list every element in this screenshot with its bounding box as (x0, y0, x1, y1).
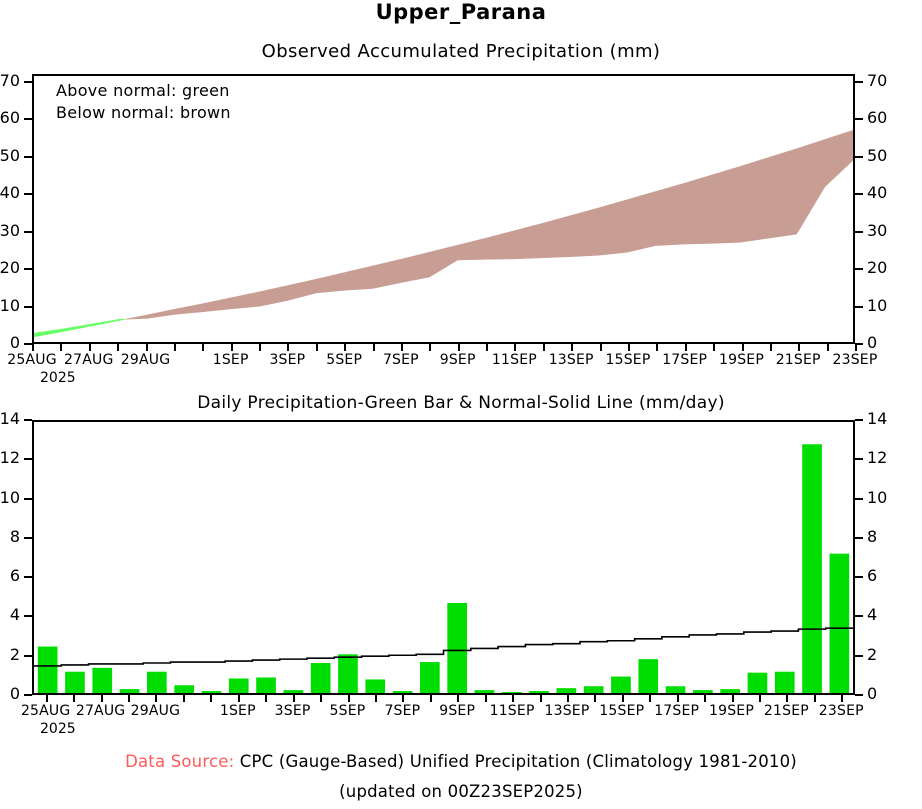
page-title: Upper_Parana (0, 0, 922, 24)
y-tick-mark-left (24, 419, 32, 421)
x-tick-mark (567, 695, 569, 702)
x-tick-mark (543, 344, 545, 351)
legend: Above normal: green Below normal: brown (56, 80, 231, 124)
x-tick-mark (770, 344, 772, 351)
y-tick-mark-right (855, 306, 863, 308)
x-tick-mark (344, 344, 346, 351)
y-tick-mark-left (24, 694, 32, 696)
x-axis-label: 11SEP (492, 352, 537, 368)
x-tick-mark (798, 344, 800, 351)
x-tick-mark (174, 344, 176, 351)
x-tick-mark (457, 695, 459, 702)
x-tick-mark (210, 695, 212, 702)
y-axis-label-left: 12 (0, 450, 20, 466)
y-axis-label-left: 50 (0, 148, 20, 164)
legend-below-normal: Below normal: brown (56, 102, 231, 124)
daily-precipitation-svg (34, 422, 853, 693)
y-axis-label-left: 60 (0, 110, 20, 126)
y-axis-label-right: 14 (867, 411, 903, 427)
y-axis-label-left: 30 (0, 223, 20, 239)
y-axis-label-right: 4 (867, 607, 903, 623)
x-axis-label: 13SEP (549, 352, 594, 368)
x-axis-label: 23SEP (819, 703, 864, 719)
footer-source-text: CPC (Gauge-Based) Unified Precipitation … (240, 752, 797, 771)
y-tick-mark-right (855, 537, 863, 539)
x-axis-label: 17SEP (662, 352, 707, 368)
x-tick-mark (855, 344, 857, 351)
x-tick-mark (101, 695, 103, 702)
x-tick-mark (628, 344, 630, 351)
y-tick-mark-right (855, 576, 863, 578)
y-axis-label-right: 2 (867, 647, 903, 663)
y-axis-label-left: 0 (0, 335, 20, 351)
y-tick-mark-left (24, 231, 32, 233)
x-tick-mark (742, 344, 744, 351)
footer-source-label: Data Source: (125, 752, 234, 771)
y-tick-mark-right (855, 419, 863, 421)
y-axis-label-right: 6 (867, 568, 903, 584)
y-tick-mark-left (24, 118, 32, 120)
x-tick-mark (713, 344, 715, 351)
x-axis-label: 23SEP (833, 352, 878, 368)
y-tick-mark-left (24, 576, 32, 578)
x-axis-label: 11SEP (490, 703, 535, 719)
y-tick-mark-right (855, 498, 863, 500)
y-tick-mark-right (855, 694, 863, 696)
x-tick-mark (238, 695, 240, 702)
y-tick-mark-right (855, 268, 863, 270)
y-tick-mark-right (855, 231, 863, 233)
y-axis-label-left: 2 (0, 647, 20, 663)
y-tick-mark-left (24, 537, 32, 539)
x-tick-mark (759, 695, 761, 702)
x-tick-mark (514, 344, 516, 351)
x-tick-mark (46, 695, 48, 702)
y-tick-mark-left (24, 306, 32, 308)
x-tick-mark (320, 695, 322, 702)
y-tick-mark-left (24, 81, 32, 83)
x-tick-mark (316, 344, 318, 351)
x-tick-mark (786, 695, 788, 702)
x-tick-mark (458, 344, 460, 351)
y-tick-mark-right (855, 615, 863, 617)
x-tick-mark (32, 344, 34, 351)
x-tick-mark (265, 695, 267, 702)
x-tick-mark (155, 695, 157, 702)
y-tick-mark-left (24, 458, 32, 460)
y-tick-mark-left (24, 615, 32, 617)
x-tick-mark (649, 695, 651, 702)
y-tick-mark-left (24, 343, 32, 345)
chart-page: Upper_Parana Observed Accumulated Precip… (0, 0, 922, 809)
x-axis-label: 3SEP (275, 703, 311, 719)
x-tick-mark (89, 344, 91, 351)
y-tick-mark-left (24, 498, 32, 500)
x-tick-mark (841, 695, 843, 702)
x-tick-mark (540, 695, 542, 702)
x-tick-mark (293, 695, 295, 702)
y-tick-mark-left (24, 156, 32, 158)
y-axis-label-left: 10 (0, 298, 20, 314)
y-axis-label-right: 10 (867, 298, 903, 314)
x-axis-label: 25AUG (21, 703, 71, 719)
x-tick-mark (594, 695, 596, 702)
x-tick-mark (814, 695, 816, 702)
x-tick-mark (704, 695, 706, 702)
y-tick-mark-left (24, 193, 32, 195)
x-axis-label: 19SEP (709, 703, 754, 719)
x-tick-mark (231, 344, 233, 351)
x-axis-label: 27AUG (76, 703, 126, 719)
y-tick-mark-right (855, 118, 863, 120)
x-axis-year-label: 2025 (40, 370, 76, 386)
x-tick-mark (685, 344, 687, 351)
x-tick-mark (60, 344, 62, 351)
x-axis-label: 3SEP (269, 352, 305, 368)
x-tick-mark (429, 344, 431, 351)
y-axis-label-left: 0 (0, 686, 20, 702)
footer-data-source: Data Source: CPC (Gauge-Based) Unified P… (0, 752, 922, 771)
footer-updated: (updated on 00Z23SEP2025) (0, 782, 922, 801)
y-axis-label-right: 70 (867, 73, 903, 89)
y-tick-mark-right (855, 156, 863, 158)
bottom-chart-title: Daily Precipitation-Green Bar & Normal-S… (0, 393, 922, 413)
x-tick-mark (486, 344, 488, 351)
y-axis-label-left: 4 (0, 607, 20, 623)
x-tick-mark (402, 695, 404, 702)
x-axis-label: 5SEP (330, 703, 366, 719)
x-axis-label: 7SEP (384, 703, 420, 719)
y-axis-label-left: 20 (0, 260, 20, 276)
x-tick-mark (73, 695, 75, 702)
x-tick-mark (128, 695, 130, 702)
x-axis-label: 9SEP (439, 703, 475, 719)
x-tick-mark (348, 695, 350, 702)
y-axis-label-right: 50 (867, 148, 903, 164)
y-axis-label-left: 70 (0, 73, 20, 89)
x-axis-label: 19SEP (719, 352, 764, 368)
x-tick-mark (571, 344, 573, 351)
x-tick-mark (430, 695, 432, 702)
x-axis-label: 25AUG (7, 352, 57, 368)
x-axis-label: 5SEP (326, 352, 362, 368)
x-axis-label: 29AUG (131, 703, 181, 719)
y-axis-label-right: 30 (867, 223, 903, 239)
y-tick-mark-left (24, 655, 32, 657)
x-axis-label: 9SEP (440, 352, 476, 368)
x-axis-label: 1SEP (220, 703, 256, 719)
x-tick-mark (375, 695, 377, 702)
x-axis-label: 17SEP (654, 703, 699, 719)
y-axis-label-right: 10 (867, 490, 903, 506)
y-tick-mark-right (855, 81, 863, 83)
x-axis-label: 15SEP (606, 352, 651, 368)
y-axis-label-left: 8 (0, 529, 20, 545)
y-axis-label-right: 0 (867, 335, 903, 351)
y-axis-label-left: 6 (0, 568, 20, 584)
y-axis-label-left: 14 (0, 411, 20, 427)
x-axis-label: 21SEP (776, 352, 821, 368)
y-axis-label-right: 20 (867, 260, 903, 276)
legend-above-normal: Above normal: green (56, 80, 231, 102)
x-tick-mark (732, 695, 734, 702)
x-axis-label: 27AUG (64, 352, 114, 368)
x-tick-mark (512, 695, 514, 702)
x-axis-label: 29AUG (121, 352, 171, 368)
x-tick-mark (622, 695, 624, 702)
daily-precipitation-plot (32, 420, 855, 695)
x-tick-mark (183, 695, 185, 702)
y-tick-mark-right (855, 458, 863, 460)
y-tick-mark-right (855, 655, 863, 657)
y-tick-mark-left (24, 268, 32, 270)
x-tick-mark (259, 344, 261, 351)
x-tick-mark (373, 344, 375, 351)
x-tick-mark (146, 344, 148, 351)
x-tick-mark (401, 344, 403, 351)
y-axis-label-right: 60 (867, 110, 903, 126)
x-tick-mark (677, 695, 679, 702)
top-chart-title: Observed Accumulated Precipitation (mm) (0, 41, 922, 62)
x-tick-mark (656, 344, 658, 351)
x-axis-label: 13SEP (545, 703, 590, 719)
y-tick-mark-right (855, 193, 863, 195)
y-axis-label-left: 10 (0, 490, 20, 506)
y-axis-label-right: 8 (867, 529, 903, 545)
y-axis-label-right: 0 (867, 686, 903, 702)
y-axis-label-left: 40 (0, 185, 20, 201)
x-tick-mark (117, 344, 119, 351)
x-axis-year-label: 2025 (40, 721, 76, 737)
x-axis-label: 15SEP (599, 703, 644, 719)
y-axis-label-right: 12 (867, 450, 903, 466)
x-axis-label: 1SEP (213, 352, 249, 368)
x-tick-mark (827, 344, 829, 351)
x-tick-mark (202, 344, 204, 351)
y-axis-label-right: 40 (867, 185, 903, 201)
x-tick-mark (485, 695, 487, 702)
x-axis-label: 7SEP (383, 352, 419, 368)
x-tick-mark (600, 344, 602, 351)
x-axis-label: 21SEP (764, 703, 809, 719)
x-tick-mark (287, 344, 289, 351)
